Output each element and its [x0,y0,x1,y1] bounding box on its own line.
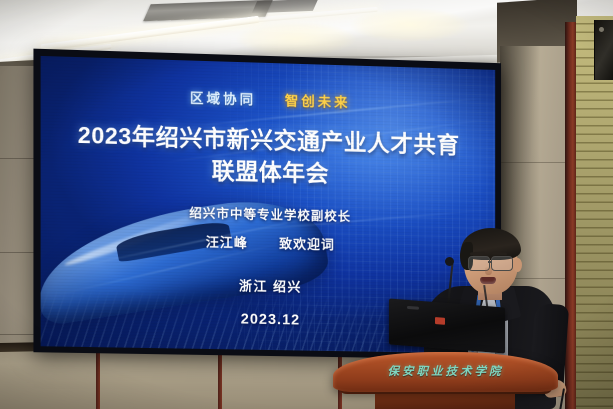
podium: 保安职业技术学院 [333,352,558,409]
speaker-led-icon [599,27,604,32]
podium-institution-text: 保安职业技术学院 [333,363,558,379]
laptop-on-podium [389,303,509,355]
laptop-lid [389,298,505,353]
lower-wall-divider [218,346,222,409]
speaker-nose [485,266,492,275]
lower-wall-divider [96,346,100,409]
wall-speaker-icon [594,20,613,80]
podium-column [375,392,515,409]
eyeglasses-right-lens [491,256,513,271]
podium-front-panel: 保安职业技术学院 [333,352,558,392]
speaker-mouth [480,277,496,284]
microphone-head-icon [445,257,454,266]
conference-photo-scene: 区域协同 智创未来 2023年绍兴市新兴交通产业人才共育 联盟体年会 绍兴市中等… [0,0,613,409]
speaker-ear [513,258,522,272]
ceiling-downlight [236,22,356,56]
laptop-webcam-icon [407,306,419,310]
laptop-logo-icon [435,317,445,325]
ceiling-downlight [350,8,470,42]
eyeglasses-bridge [488,261,492,263]
